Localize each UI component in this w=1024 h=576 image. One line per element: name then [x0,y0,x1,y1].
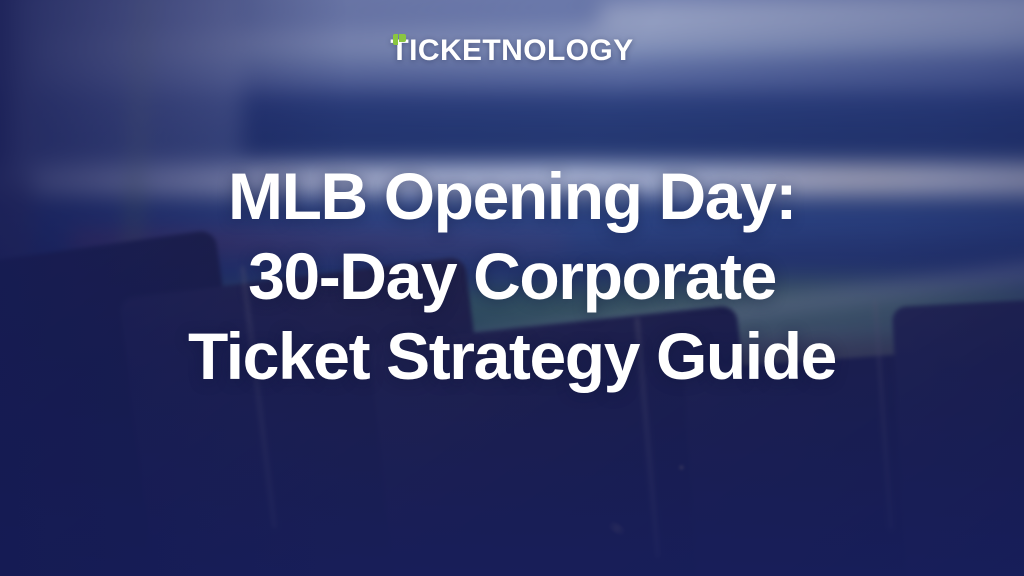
hero-banner: TICKETNOLOGY MLB Opening Day: 30-Day Cor… [0,0,1024,576]
hero-title-line-2: 30-Day Corporate [40,236,984,316]
brand-logo-text: TICKETNOLOGY [390,36,633,66]
logo-container[interactable]: TICKETNOLOGY [0,36,1024,66]
brand-logo[interactable]: TICKETNOLOGY [390,36,633,66]
hero-title-line-1: MLB Opening Day: [40,156,984,236]
hero-title-line-3: Ticket Strategy Guide [40,316,984,396]
hero-title: MLB Opening Day: 30-Day Corporate Ticket… [0,156,1024,396]
